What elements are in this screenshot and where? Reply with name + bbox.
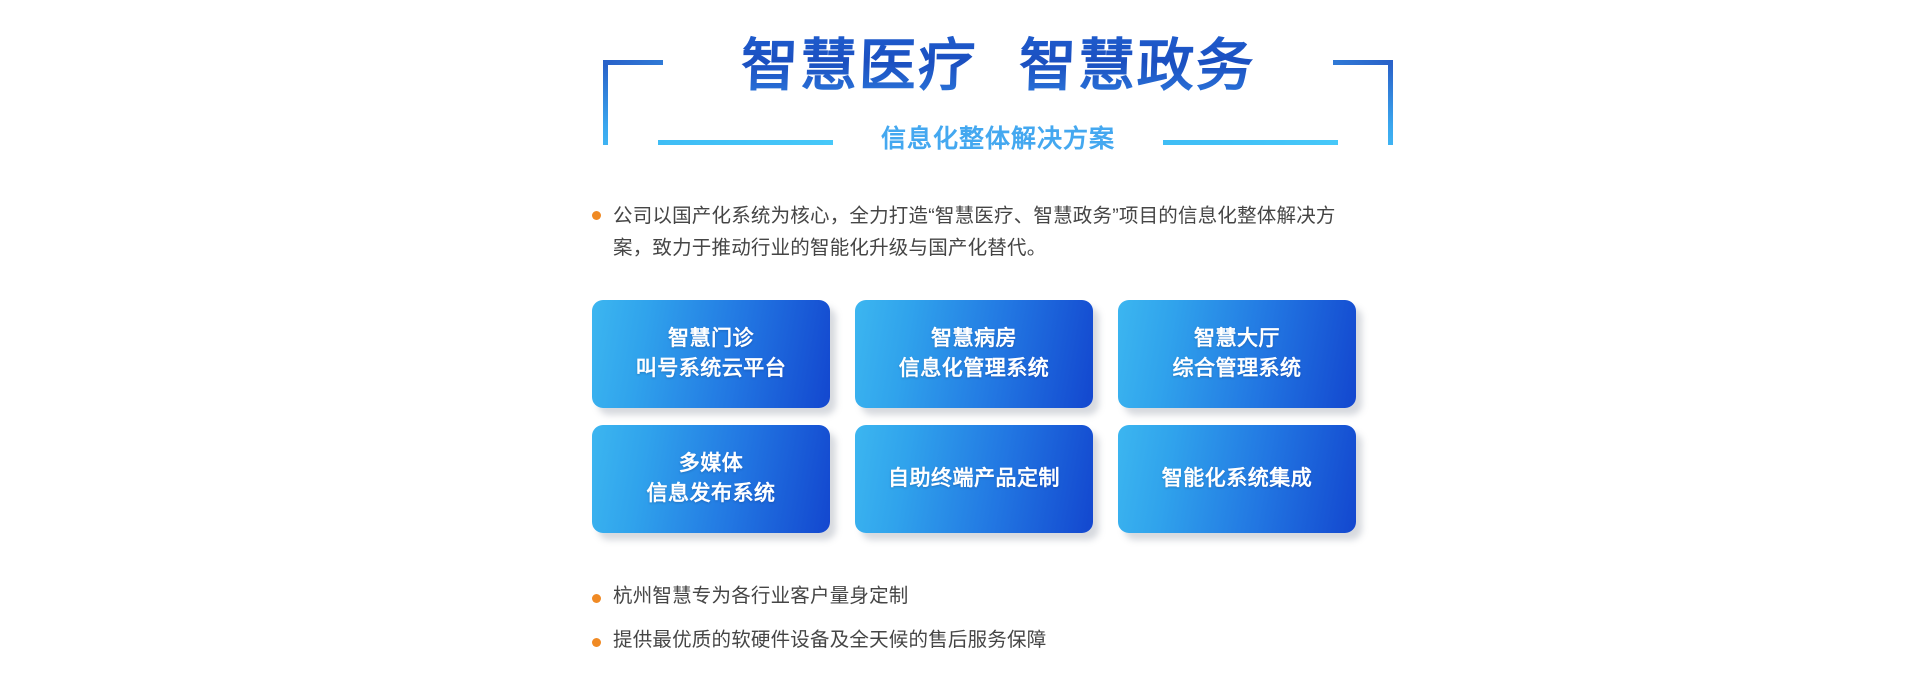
card-smart-outpatient[interactable]: 智慧门诊 叫号系统云平台 <box>592 300 830 408</box>
bullet-text: 提供最优质的软硬件设备及全天候的售后服务保障 <box>613 627 1046 653</box>
bullet-dot-icon <box>592 211 601 220</box>
title-part-government: 智慧政务 <box>1018 28 1257 104</box>
page-subtitle: 信息化整体解决方案 <box>603 124 1393 154</box>
card-label: 智慧病房 信息化管理系统 <box>891 324 1058 384</box>
content-column: 智慧医疗 智慧政务 信息化整体解决方案 公司以国产化系统为核心，全力打造“智慧医… <box>0 0 1920 680</box>
title-part-medical: 智慧医疗 <box>739 28 978 104</box>
card-label: 多媒体 信息发布系统 <box>639 449 784 509</box>
intro-paragraph-text: 公司以国产化系统为核心，全力打造“智慧医疗、智慧政务”项目的信息化整体解决方案，… <box>613 200 1352 264</box>
bottom-bullet-list: 杭州智慧专为各行业客户量身定制 提供最优质的软硬件设备及全天候的售后服务保障 <box>592 583 1352 671</box>
solution-card-grid: 智慧门诊 叫号系统云平台 智慧病房 信息化管理系统 智慧大厅 综合管理系统 多媒… <box>592 300 1356 550</box>
card-row-1: 智慧门诊 叫号系统云平台 智慧病房 信息化管理系统 智慧大厅 综合管理系统 <box>592 300 1356 408</box>
page-root: 智慧医疗 智慧政务 信息化整体解决方案 公司以国产化系统为核心，全力打造“智慧医… <box>0 0 1920 680</box>
card-smart-hall[interactable]: 智慧大厅 综合管理系统 <box>1118 300 1356 408</box>
card-row-2: 多媒体 信息发布系统 自助终端产品定制 智能化系统集成 <box>592 425 1356 533</box>
bullet-dot-icon <box>592 594 601 603</box>
card-intelligent-integration[interactable]: 智能化系统集成 <box>1118 425 1356 533</box>
bullet-text: 杭州智慧专为各行业客户量身定制 <box>613 583 909 609</box>
card-label: 智慧大厅 综合管理系统 <box>1165 324 1310 384</box>
card-label: 自助终端产品定制 <box>880 464 1068 494</box>
card-label: 智慧门诊 叫号系统云平台 <box>628 324 795 384</box>
header-banner: 智慧医疗 智慧政务 信息化整体解决方案 <box>603 30 1393 145</box>
list-item: 杭州智慧专为各行业客户量身定制 <box>592 583 1352 609</box>
intro-paragraph: 公司以国产化系统为核心，全力打造“智慧医疗、智慧政务”项目的信息化整体解决方案，… <box>592 200 1352 264</box>
page-title: 智慧医疗 智慧政务 <box>603 28 1393 104</box>
bullet-dot-icon <box>592 638 601 647</box>
card-multimedia-publishing[interactable]: 多媒体 信息发布系统 <box>592 425 830 533</box>
card-self-service-terminal[interactable]: 自助终端产品定制 <box>855 425 1093 533</box>
list-item: 提供最优质的软硬件设备及全天候的售后服务保障 <box>592 627 1352 653</box>
card-smart-ward[interactable]: 智慧病房 信息化管理系统 <box>855 300 1093 408</box>
card-label: 智能化系统集成 <box>1154 464 1321 494</box>
